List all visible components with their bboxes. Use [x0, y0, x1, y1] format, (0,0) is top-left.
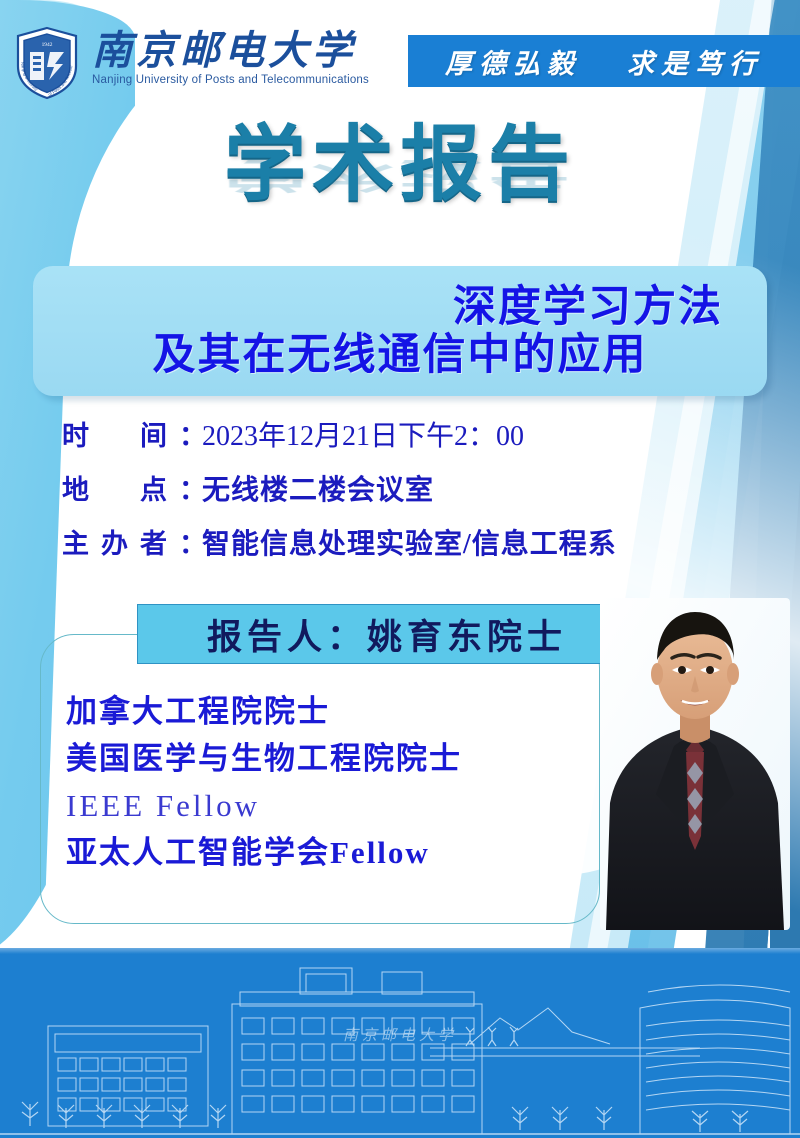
- talk-subtitle-line-1: 深度学习方法: [33, 283, 767, 331]
- credential-line: 亚太人工智能学会Fellow: [66, 829, 626, 876]
- university-name-cn: 南京邮电大学: [92, 30, 369, 72]
- info-label-organizer: 主办者：: [62, 522, 202, 561]
- info-value-organizer: 智能信息处理实验室/信息工程系: [202, 522, 617, 562]
- university-logo: 1942 Nanjing University of Posts and Tel…: [14, 26, 369, 100]
- credential-line: 美国医学与生物工程院院士: [66, 735, 626, 782]
- poster-canvas: 1942 Nanjing University of Posts and Tel…: [0, 0, 800, 1138]
- university-name-block: 南京邮电大学 Nanjing University of Posts and T…: [92, 30, 369, 86]
- event-info-list: 时 间： 2023年12月21日下午2：00 地 点： 无线楼二楼会议室 主办者…: [62, 414, 762, 576]
- info-row-location: 地 点： 无线楼二楼会议室: [62, 468, 762, 508]
- info-value-time: 2023年12月21日下午2：00: [202, 414, 524, 454]
- speaker-name-text: 报告人：姚育东院士: [207, 609, 567, 660]
- info-row-organizer: 主办者： 智能信息处理实验室/信息工程系: [62, 522, 762, 562]
- svg-text:1942: 1942: [42, 42, 53, 48]
- poster-title-reflection: 学术报告: [0, 158, 800, 192]
- info-row-time: 时 间： 2023年12月21日下午2：00: [62, 414, 762, 454]
- info-value-location: 无线楼二楼会议室: [202, 468, 434, 508]
- motto-part-2: 求是笃行: [627, 42, 763, 81]
- speaker-name-banner: 报告人：姚育东院士: [137, 604, 637, 664]
- speaker-credentials-list: 加拿大工程院院士 美国医学与生物工程院院士 IEEE Fellow 亚太人工智能…: [66, 688, 626, 876]
- motto-part-1: 厚德弘毅: [445, 42, 581, 81]
- talk-subtitle-box: 深度学习方法 及其在无线通信中的应用: [33, 266, 767, 396]
- svg-text:南京邮电大学: 南京邮电大学: [343, 1027, 457, 1044]
- info-label-time: 时 间：: [62, 414, 202, 453]
- footer-illustration: 南京邮电大学: [0, 948, 800, 1138]
- university-motto-banner: 厚德弘毅 求是笃行: [408, 35, 800, 87]
- credential-line: 加拿大工程院院士: [66, 688, 626, 735]
- poster-title-block: 学术报告 学术报告: [0, 124, 800, 274]
- info-label-location: 地 点：: [62, 468, 202, 507]
- speaker-portrait: [600, 598, 790, 930]
- university-name-en: Nanjing University of Posts and Telecomm…: [92, 74, 369, 86]
- footer-top-highlight: [0, 948, 800, 954]
- talk-subtitle-line-2: 及其在无线通信中的应用: [33, 331, 767, 379]
- credential-line: IEEE Fellow: [66, 782, 626, 829]
- nupt-crest-icon: 1942 Nanjing University of Posts and Tel…: [14, 26, 80, 100]
